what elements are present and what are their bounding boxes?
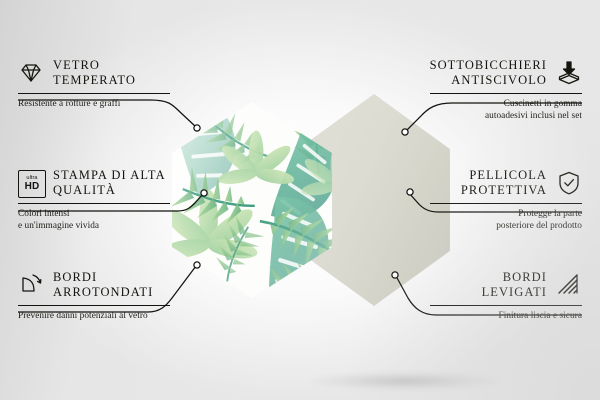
feature-description: Protegge la parte posteriore del prodott… [430,208,582,232]
feature-sottobicchieri-antiscivolo: SOTTOBICCHIERI ANTISCIVOLO Cuscinetti in… [430,58,582,122]
feature-stampa-alta-qualita: ultra HD STAMPA DI ALTA QUALITÀ Colori i… [18,168,170,232]
ultra-hd-icon: ultra HD [18,170,44,196]
feature-title: SOTTOBICCHIERI ANTISCIVOLO [430,58,547,89]
rubber-pad [320,278,326,284]
feature-header: SOTTOBICCHIERI ANTISCIVOLO [430,58,582,89]
product-shadow [310,372,500,390]
feature-title: STAMPA DI ALTA QUALITÀ [53,168,166,199]
infographic-canvas: VETRO TEMPERATO Resistente a rotture e g… [0,0,600,400]
diamond-icon [18,60,44,86]
rubber-pad [320,116,326,122]
feature-rule [18,305,170,306]
feature-rule [430,305,582,306]
feature-description: Cuscinetti in gomma autoadesivi inclusi … [430,98,582,122]
feature-bordi-arrotondati: BORDI ARROTONDATI Prevenire danni potenz… [18,270,170,322]
feature-rule [18,93,170,94]
feature-header: BORDI ARROTONDATI [18,270,170,301]
rounded-corner-icon [18,272,44,298]
feature-bordi-levigati: BORDI LEVIGATI Finitura liscia e sicura [430,270,582,322]
feature-vetro-temperato: VETRO TEMPERATO Resistente a rotture e g… [18,58,170,110]
hatched-triangle-icon [556,272,582,298]
rubber-pad [422,278,428,284]
feature-title: BORDI LEVIGATI [482,270,547,301]
feature-description: Resistente a rotture e graffi [18,98,170,110]
product-illustration [150,80,460,320]
feature-header: VETRO TEMPERATO [18,58,170,89]
feature-description: Finitura liscia e sicura [430,310,582,322]
ultra-hd-bottom-label: HD [25,182,40,192]
feature-description: Colori intensi e un'immagine vivida [18,208,170,232]
feature-rule [430,203,582,204]
feature-title: PELLICOLA PROTETTIVA [461,168,547,199]
feature-title: VETRO TEMPERATO [53,58,136,89]
shield-check-icon [556,170,582,196]
feature-pellicola-protettiva: PELLICOLA PROTETTIVA Protegge la parte p… [430,168,582,232]
feature-rule [430,93,582,94]
feature-header: PELLICOLA PROTETTIVA [430,168,582,199]
feature-header: BORDI LEVIGATI [430,270,582,301]
feature-description: Prevenire danni potenziali al vetro [18,310,170,322]
product-front-panel [172,102,332,298]
feature-rule [18,203,170,204]
feature-title: BORDI ARROTONDATI [53,270,153,301]
feature-header: ultra HD STAMPA DI ALTA QUALITÀ [18,168,170,199]
tropical-leaf-pattern [172,102,332,298]
rubber-pad [422,116,428,122]
anti-slip-pad-icon [556,60,582,86]
